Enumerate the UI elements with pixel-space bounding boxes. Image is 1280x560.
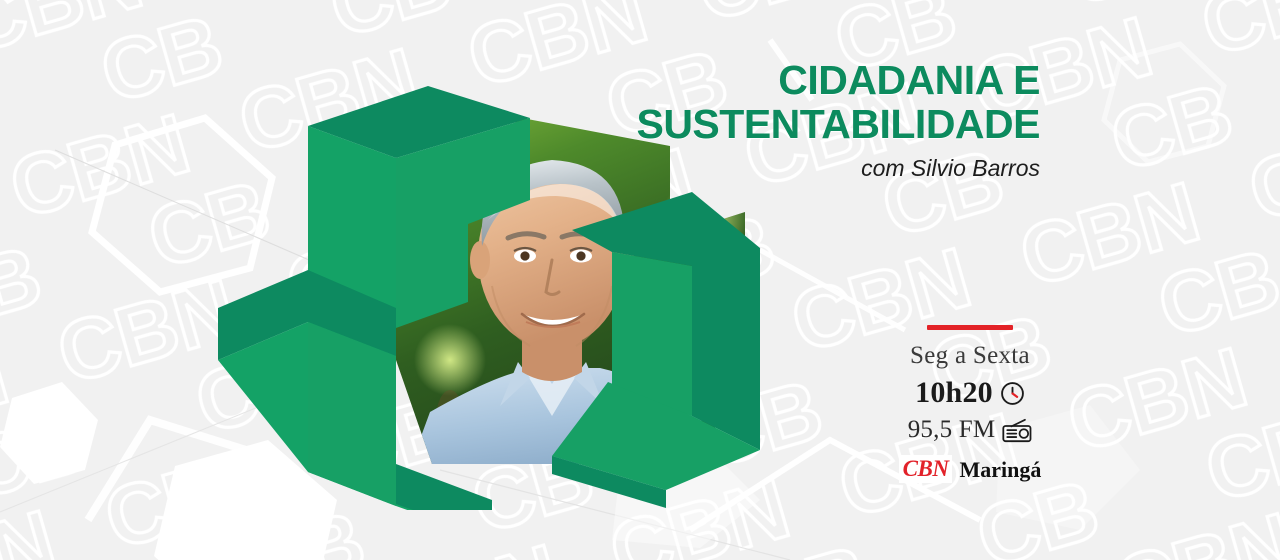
cbn-logo-mark: CBN [899, 455, 953, 483]
broadcast-frequency-row: 95,5 FM [880, 416, 1060, 444]
cbn-program-banner: CBN CBN [0, 0, 1280, 560]
radio-icon [1002, 418, 1032, 443]
program-title-block: CIDADANIA E SUSTENTABILIDADE com Silvio … [300, 58, 1040, 182]
broadcast-info-block: Seg a Sexta 10h20 95,5 FM [880, 325, 1060, 483]
broadcast-time-row: 10h20 [880, 377, 1060, 409]
broadcast-time-label: 10h20 [915, 377, 993, 409]
station-logo[interactable]: CBN Maringá [880, 455, 1060, 483]
program-title-line-1: CIDADANIA E [300, 58, 1040, 102]
station-city-label: Maringá [959, 458, 1041, 481]
broadcast-days-label: Seg a Sexta [880, 342, 1060, 370]
program-title-line-2: SUSTENTABILIDADE [300, 102, 1040, 146]
broadcast-frequency-label: 95,5 FM [908, 416, 996, 444]
program-host-subtitle: com Silvio Barros [300, 154, 1040, 182]
accent-divider [927, 325, 1013, 330]
clock-icon [1000, 381, 1025, 406]
